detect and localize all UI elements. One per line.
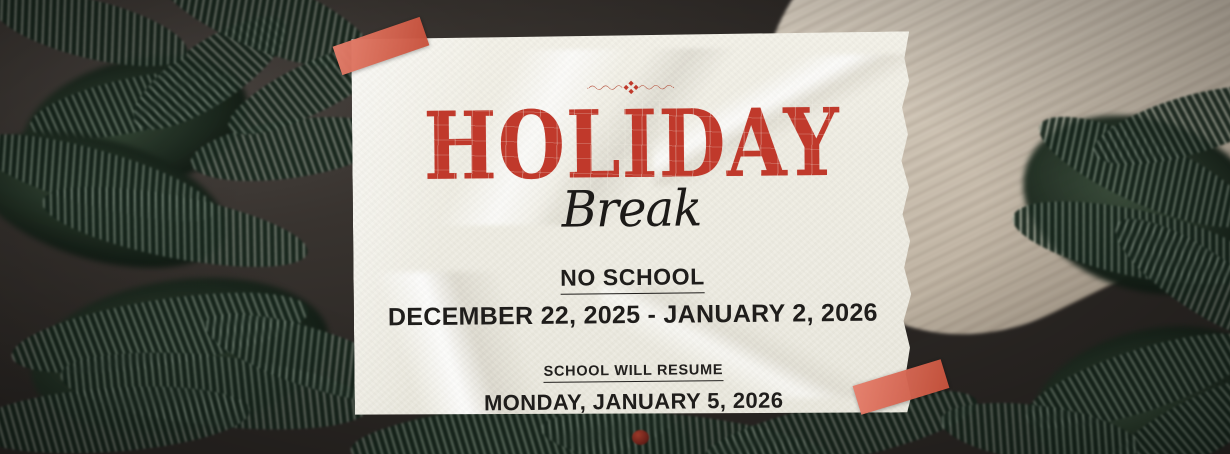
no-school-heading: NO SCHOOL — [560, 263, 705, 294]
resume-date: MONDAY, JANUARY 5, 2026 — [484, 388, 784, 417]
no-school-date-range: DECEMBER 22, 2025 - JANUARY 2, 2026 — [388, 299, 878, 333]
title-group: HOLIDAY — [394, 98, 868, 191]
berry-icon — [632, 430, 649, 445]
holiday-break-banner: HOLIDAY Break NO SCHOOL DECEMBER 22, 202… — [0, 0, 1230, 454]
poster-card: HOLIDAY Break NO SCHOOL DECEMBER 22, 202… — [351, 31, 913, 417]
page-title: HOLIDAY — [423, 95, 840, 192]
announcement-block: NO SCHOOL DECEMBER 22, 2025 - JANUARY 2,… — [387, 262, 877, 333]
resume-block: SCHOOL WILL RESUME MONDAY, JANUARY 5, 20… — [484, 361, 784, 417]
page-subtitle: Break — [562, 179, 702, 238]
resume-heading: SCHOOL WILL RESUME — [544, 362, 724, 383]
